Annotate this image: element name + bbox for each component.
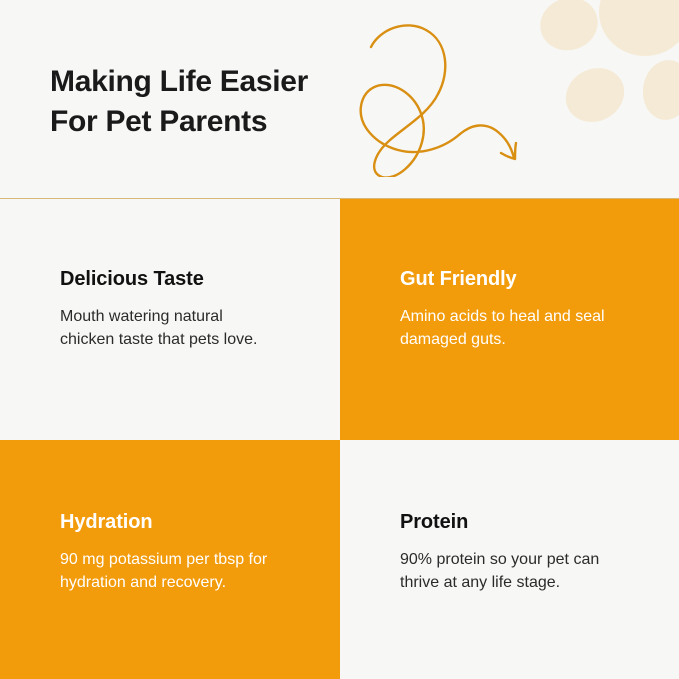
squiggle-arrow-icon — [358, 22, 543, 177]
feature-heading: Gut Friendly — [400, 267, 517, 291]
feature-body: 90 mg potassium per tbsp for hydration a… — [60, 548, 276, 594]
feature-card-protein[interactable]: Protein 90% protein so your pet can thri… — [340, 440, 679, 679]
feature-card-hydration[interactable]: Hydration 90 mg potassium per tbsp for h… — [0, 440, 340, 679]
feature-body: 90% protein so your pet can thrive at an… — [400, 548, 616, 594]
feature-body: Amino acids to heal and seal damaged gut… — [400, 305, 616, 351]
header-section: Making Life Easier For Pet Parents — [0, 0, 679, 199]
feature-card-delicious-taste[interactable]: Delicious Taste Mouth watering natural c… — [0, 199, 340, 440]
feature-heading: Delicious Taste — [60, 267, 204, 291]
feature-heading: Protein — [400, 510, 468, 534]
paw-print-icon — [527, 0, 679, 128]
feature-heading: Hydration — [60, 510, 152, 534]
page-title: Making Life Easier For Pet Parents — [50, 62, 380, 142]
infographic-page: Making Life Easier For Pet Parents Delic… — [0, 0, 679, 679]
feature-card-gut-friendly[interactable]: Gut Friendly Amino acids to heal and sea… — [340, 199, 679, 440]
feature-body: Mouth watering natural chicken taste tha… — [60, 305, 276, 351]
feature-grid: Delicious Taste Mouth watering natural c… — [0, 199, 679, 679]
